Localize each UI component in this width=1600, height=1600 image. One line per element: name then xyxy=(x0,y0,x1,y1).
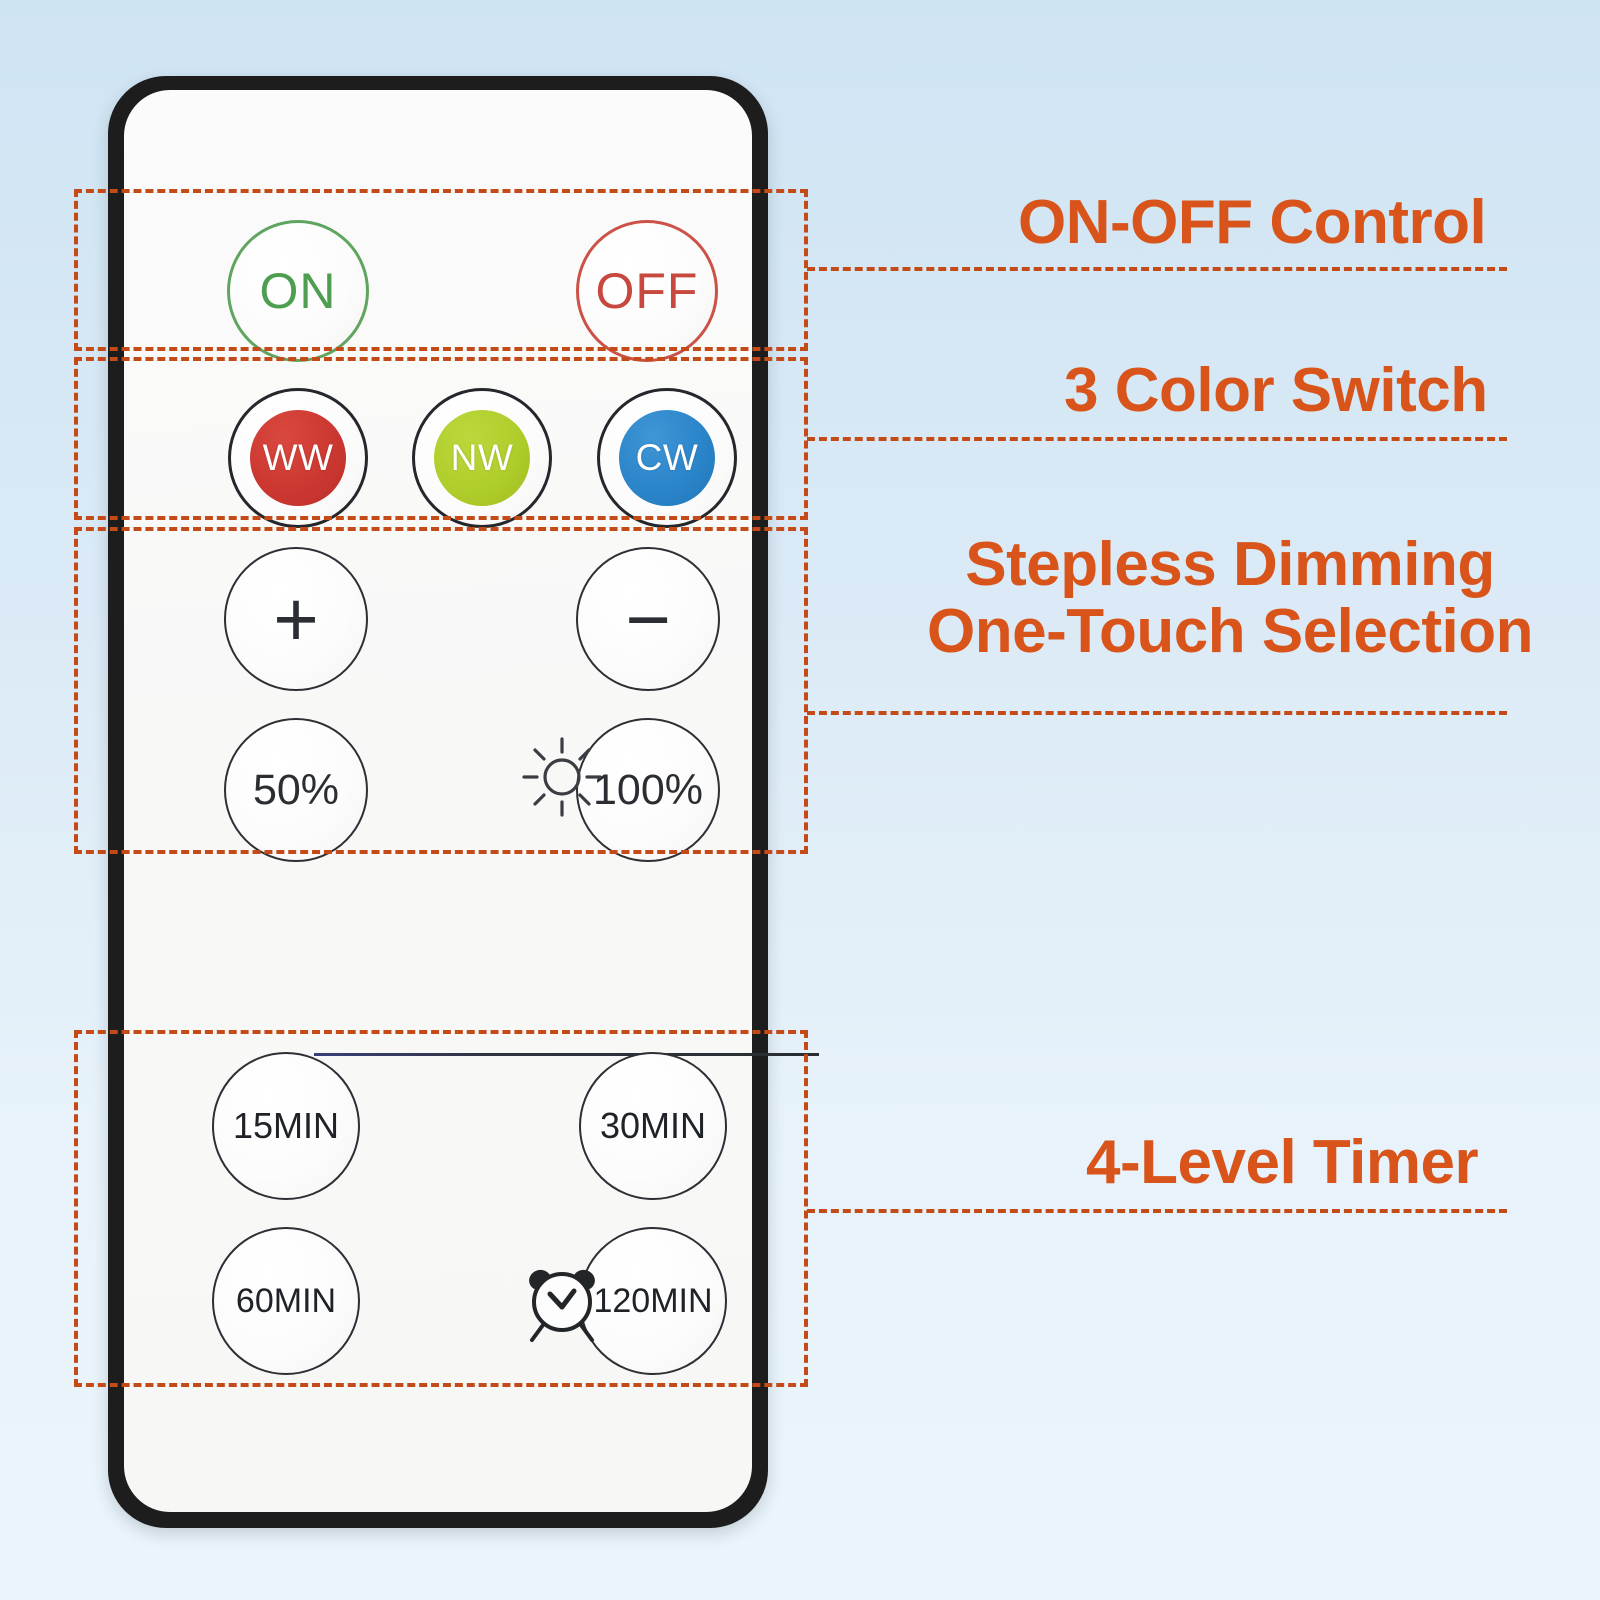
cool-white-swatch: CW xyxy=(619,410,715,506)
timer-60min-label: 60MIN xyxy=(236,1282,336,1321)
neutral-white-label: NW xyxy=(451,437,514,479)
off-button[interactable]: OFF xyxy=(576,220,718,362)
brightness-up-button[interactable]: + xyxy=(224,547,368,691)
callout-leader-power xyxy=(807,267,1507,271)
brightness-down-label: − xyxy=(625,596,671,643)
sun-icon xyxy=(520,735,604,819)
neutral-white-swatch: NW xyxy=(434,410,530,506)
callout-label-power: ON-OFF Control xyxy=(1018,190,1578,257)
timer-30min-label: 30MIN xyxy=(600,1105,706,1147)
timer-30min-button[interactable]: 30MIN xyxy=(579,1052,727,1200)
timer-60min-button[interactable]: 60MIN xyxy=(212,1227,360,1375)
product-feature-diagram: ON OFF WW NW CW xyxy=(0,0,1600,1600)
warm-white-label: WW xyxy=(263,437,334,479)
cool-white-button[interactable]: CW xyxy=(597,388,737,528)
timer-15min-button[interactable]: 15MIN xyxy=(212,1052,360,1200)
brightness-down-button[interactable]: − xyxy=(576,547,720,691)
on-button[interactable]: ON xyxy=(227,220,369,362)
neutral-white-button[interactable]: NW xyxy=(412,388,552,528)
brightness-50-label: 50% xyxy=(253,766,339,815)
timer-120min-label: 120MIN xyxy=(593,1282,712,1321)
on-button-label: ON xyxy=(260,262,337,320)
callout-label-timer: 4-Level Timer xyxy=(1086,1130,1586,1197)
warm-white-swatch: WW xyxy=(250,410,346,506)
remote-face: ON OFF WW NW CW xyxy=(124,90,752,1512)
cool-white-label: CW xyxy=(636,437,699,479)
remote-control-body: ON OFF WW NW CW xyxy=(108,76,768,1528)
brightness-up-label: + xyxy=(273,596,319,643)
callout-label-color: 3 Color Switch xyxy=(1064,358,1584,425)
callout-leader-timer xyxy=(807,1209,1507,1213)
callout-leader-color xyxy=(807,437,1507,441)
face-divider xyxy=(314,1053,819,1056)
callout-leader-dimming xyxy=(807,711,1507,715)
off-button-label: OFF xyxy=(596,262,699,320)
callout-label-dimming: Stepless Dimming One-Touch Selection xyxy=(880,532,1580,666)
timer-15min-label: 15MIN xyxy=(233,1105,339,1147)
brightness-100-label: 100% xyxy=(593,766,703,815)
alarm-clock-icon xyxy=(516,1255,608,1347)
brightness-50-button[interactable]: 50% xyxy=(224,718,368,862)
warm-white-button[interactable]: WW xyxy=(228,388,368,528)
